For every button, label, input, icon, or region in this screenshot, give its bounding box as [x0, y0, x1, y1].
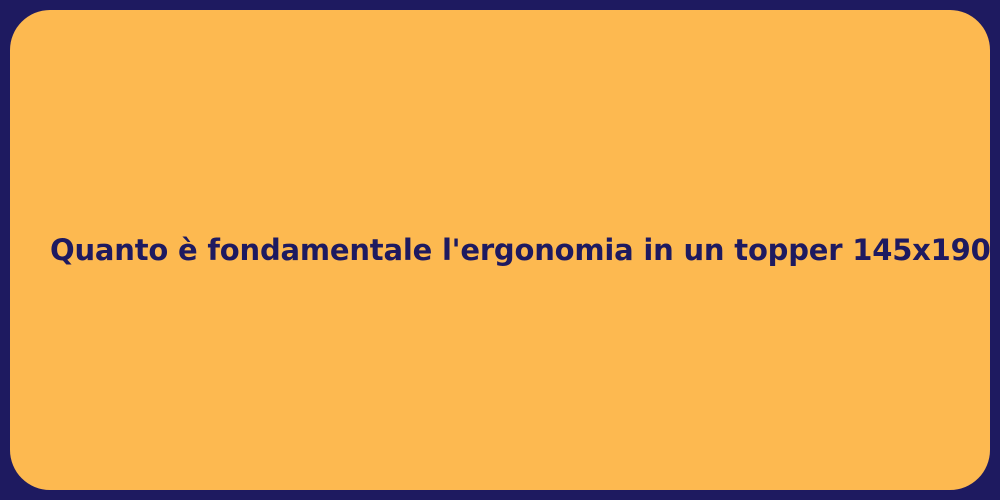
question-card: Quanto è fondamentale l'ergonomia in un …: [0, 0, 1000, 500]
question-heading: Quanto è fondamentale l'ergonomia in un …: [50, 232, 950, 268]
content-panel: Quanto è fondamentale l'ergonomia in un …: [10, 10, 990, 490]
